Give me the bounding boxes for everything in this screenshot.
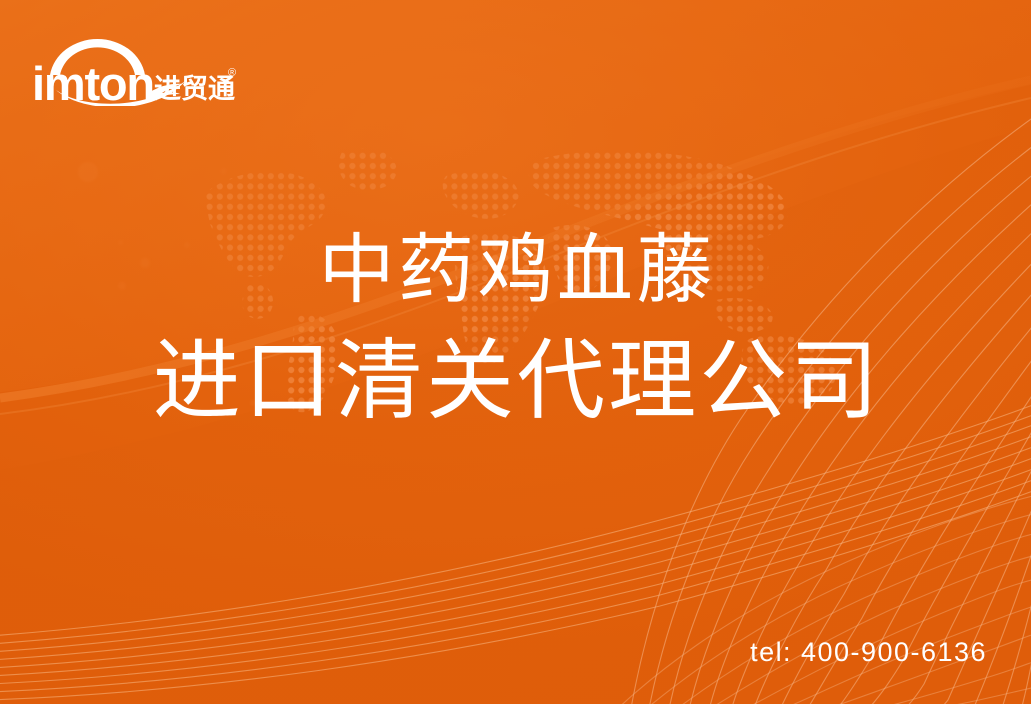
- headline-line-2: 进口清关代理公司: [0, 337, 1031, 425]
- bokeh-dot: [220, 168, 227, 175]
- bokeh-dot: [78, 162, 98, 182]
- brand-logo[interactable]: imton 进贸通 ®: [32, 26, 242, 106]
- trademark-icon: ®: [228, 67, 236, 79]
- headline: 中药鸡血藤 进口清关代理公司: [0, 233, 1031, 425]
- telephone-label[interactable]: tel: 400-900-6136: [750, 637, 987, 668]
- logo-wordmark: imton: [32, 57, 154, 106]
- headline-line-1: 中药鸡血藤: [0, 233, 1031, 309]
- banner-canvas: imton 进贸通 ® 中药鸡血藤 进口清关代理公司 tel: 400-900-…: [0, 0, 1031, 704]
- logo-chinese-name: 进贸通: [154, 74, 235, 105]
